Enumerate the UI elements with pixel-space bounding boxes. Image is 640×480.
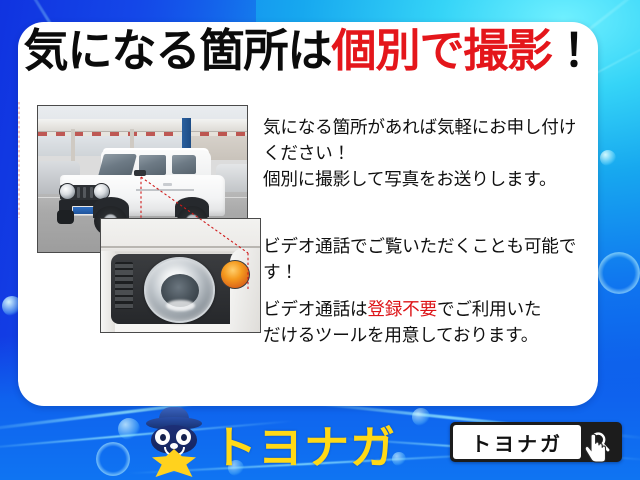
body-line: す！ xyxy=(263,261,598,287)
bokeh-bubble xyxy=(600,150,616,166)
body-paragraph-2: ビデオ通話でご覧いただくことも可能で す！ ビデオ通話は登録不要でご利用いた だ… xyxy=(263,235,598,349)
detail-headlight-lens xyxy=(144,257,216,323)
mascot-pupil-right xyxy=(181,434,187,441)
vehicle-tow-hook xyxy=(57,210,74,224)
headline-highlight: 個別で撮影 xyxy=(331,24,551,77)
photo-canopy-stripe xyxy=(38,132,247,137)
headline-exclamation: ！ xyxy=(552,24,593,77)
body-line: 個別に撮影して写真をお送りします。 xyxy=(263,168,598,194)
photo-canopy xyxy=(38,119,247,132)
body-line: だけるツールを用意しております。 xyxy=(263,324,598,350)
vehicle-windshield xyxy=(98,154,137,177)
vehicle-mirror xyxy=(134,170,146,176)
body-text-a: ビデオ通話は xyxy=(263,300,367,320)
detail-hood-line xyxy=(101,246,260,248)
detail-grille-vent xyxy=(115,262,132,309)
body-text-b: でご利用いた xyxy=(437,300,541,320)
bottom-banner: トヨナガ トヨナガ xyxy=(0,404,640,480)
detail-headlight-glint xyxy=(166,300,194,311)
vehicle-door-line xyxy=(136,189,194,191)
body-paragraph-1: 気になる箇所があれば気軽にお申し付け ください！ 個別に撮影して写真をお送りしま… xyxy=(263,116,598,194)
search-input[interactable]: トヨナガ xyxy=(453,425,581,459)
hand-pointer-cursor xyxy=(583,434,609,464)
body-highlight-no-registration: 登録不要 xyxy=(367,300,437,320)
body-line: 気になる箇所があれば気軽にお申し付け xyxy=(263,116,598,142)
vehicle-door-handle xyxy=(163,183,172,186)
mascot-star-body xyxy=(152,449,196,477)
content-card: 気になる箇所は個別で撮影！ xyxy=(18,22,598,406)
mascot-pupil-left xyxy=(160,434,166,441)
vehicle-photo-headlight-detail xyxy=(100,218,261,333)
body-line: ビデオ通話は登録不要でご利用いた xyxy=(263,298,598,324)
toyonaga-logo-text: トヨナガ xyxy=(212,425,396,470)
vehicle-rear-window xyxy=(172,155,196,173)
toyonaga-mascot-icon xyxy=(146,407,202,477)
body-line: ビデオ通話でご覧いただくことも可能で xyxy=(263,235,598,261)
page-title: 気になる箇所は個別で撮影！ xyxy=(18,28,598,75)
search-box[interactable]: トヨナガ xyxy=(450,422,622,462)
bokeh-bubble xyxy=(598,252,640,294)
body-line: ください！ xyxy=(263,142,598,168)
headline-plain: 気になる箇所は xyxy=(23,24,331,77)
